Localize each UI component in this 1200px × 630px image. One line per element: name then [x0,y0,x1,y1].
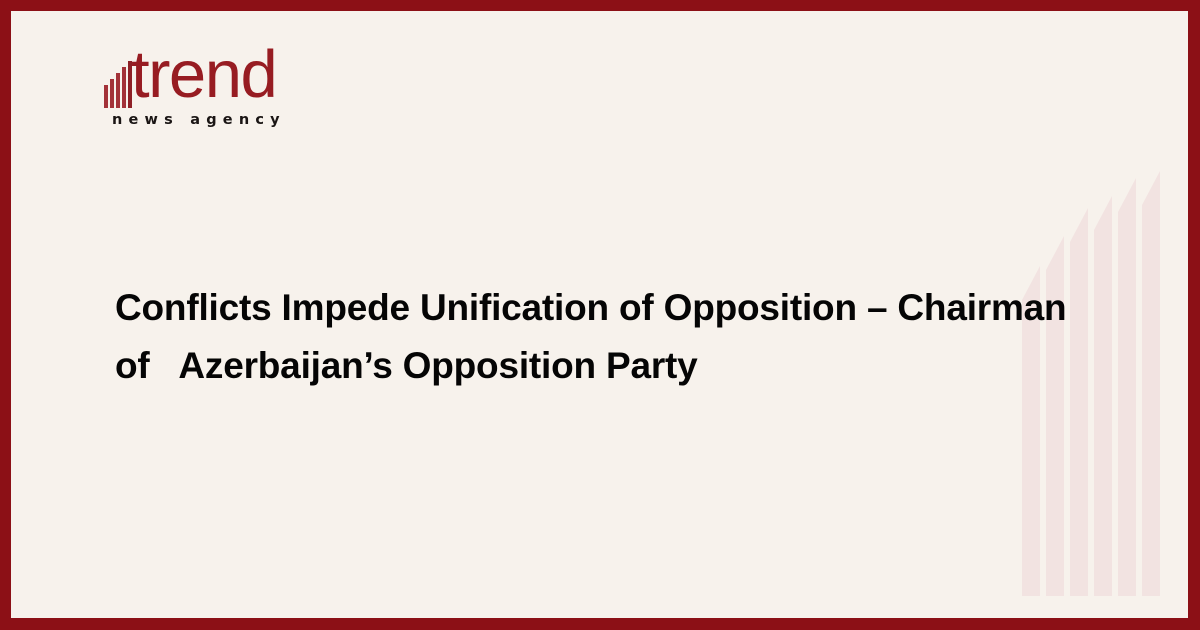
watermark-bar [1118,178,1136,596]
logo-tagline: news agency [112,113,286,128]
logo-bar [116,73,120,108]
watermark-bar [1142,171,1160,596]
watermark-bar [1070,208,1088,596]
logo-bar [104,85,108,108]
watermark-bar [1094,196,1112,596]
trend-news-agency-logo[interactable]: trend news agency [104,51,334,141]
logo-wordmark: trend [131,41,276,108]
logo-bar [110,79,114,108]
card-canvas: trend news agency Conflicts Impede Unifi… [11,11,1188,618]
social-share-card: trend news agency Conflicts Impede Unifi… [0,0,1200,630]
ascending-bars-icon [104,56,132,108]
logo-bar [122,67,126,108]
page-title: Conflicts Impede Unification of Oppositi… [115,279,1105,395]
